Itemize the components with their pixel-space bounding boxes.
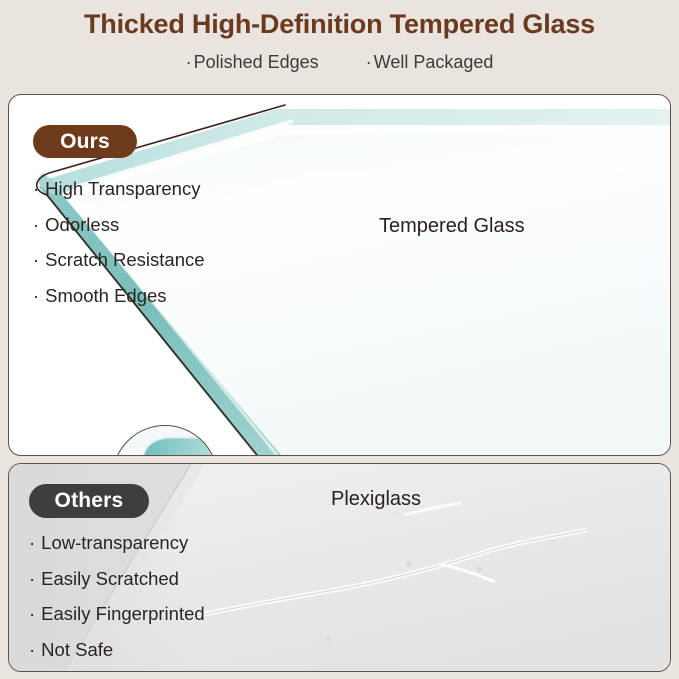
tempered-glass-label: Tempered Glass [379, 215, 525, 238]
subtitle-label: Polished Edges [194, 52, 319, 72]
list-item-label: Easily Scratched [41, 570, 179, 589]
header: Thicked High-Definition Tempered Glass ·… [0, 0, 679, 92]
badge-others: Others [29, 484, 149, 518]
plexiglass-blemish-a [406, 561, 412, 567]
list-item-label: Scratch Resistance [45, 251, 204, 270]
plexiglass-blemish-c [326, 636, 331, 641]
list-item-label: Easily Fingerprinted [41, 605, 205, 624]
subtitle-row: ·Polished Edges ·Well Packaged [0, 52, 679, 73]
list-item-label: Low-transparency [41, 534, 188, 553]
bullet-dot-icon: · [186, 52, 192, 72]
bullet-dot-icon: · [33, 180, 39, 199]
list-item-label: Smooth Edges [45, 287, 166, 306]
list-item: · Easily Fingerprinted [29, 605, 205, 624]
subtitle-label: Well Packaged [374, 52, 494, 72]
list-item-label: High Transparency [45, 180, 200, 199]
ours-feature-list: · High Transparency · Odorless · Scratch… [33, 180, 205, 322]
list-item-label: Not Safe [41, 641, 113, 660]
list-item: · Easily Scratched [29, 570, 205, 589]
bullet-dot-icon: · [29, 641, 35, 660]
bullet-dot-icon: · [33, 251, 39, 270]
list-item: · Odorless [33, 216, 205, 235]
bullet-dot-icon: · [29, 605, 35, 624]
others-feature-list: · Low-transparency · Easily Scratched · … [29, 534, 205, 672]
list-item: · Scratch Resistance [33, 251, 205, 270]
badge-ours: Ours [33, 125, 137, 158]
ours-panel: Tempered Glass Ours · High Transparency … [8, 94, 671, 456]
badge-ours-label: Ours [60, 130, 110, 154]
list-item: · Smooth Edges [33, 287, 205, 306]
bullet-dot-icon: · [29, 534, 35, 553]
others-panel: Plexiglass Others · Low-transparency · E… [8, 463, 671, 672]
list-item: · High Transparency [33, 180, 205, 199]
list-item: · Low-transparency [29, 534, 205, 553]
list-item: · Not Safe [29, 641, 205, 660]
page-title: Thicked High-Definition Tempered Glass [0, 9, 679, 40]
plexiglass-label: Plexiglass [331, 488, 421, 511]
bullet-dot-icon: · [366, 52, 372, 72]
bullet-dot-icon: · [33, 216, 39, 235]
plexiglass-blemish-b [477, 567, 482, 572]
subtitle-item-well-packaged: ·Well Packaged [366, 52, 494, 73]
bullet-dot-icon: · [29, 570, 35, 589]
bullet-dot-icon: · [33, 287, 39, 306]
list-item-label: Odorless [45, 216, 119, 235]
subtitle-item-polished-edges: ·Polished Edges [186, 52, 319, 73]
badge-others-label: Others [55, 489, 124, 513]
